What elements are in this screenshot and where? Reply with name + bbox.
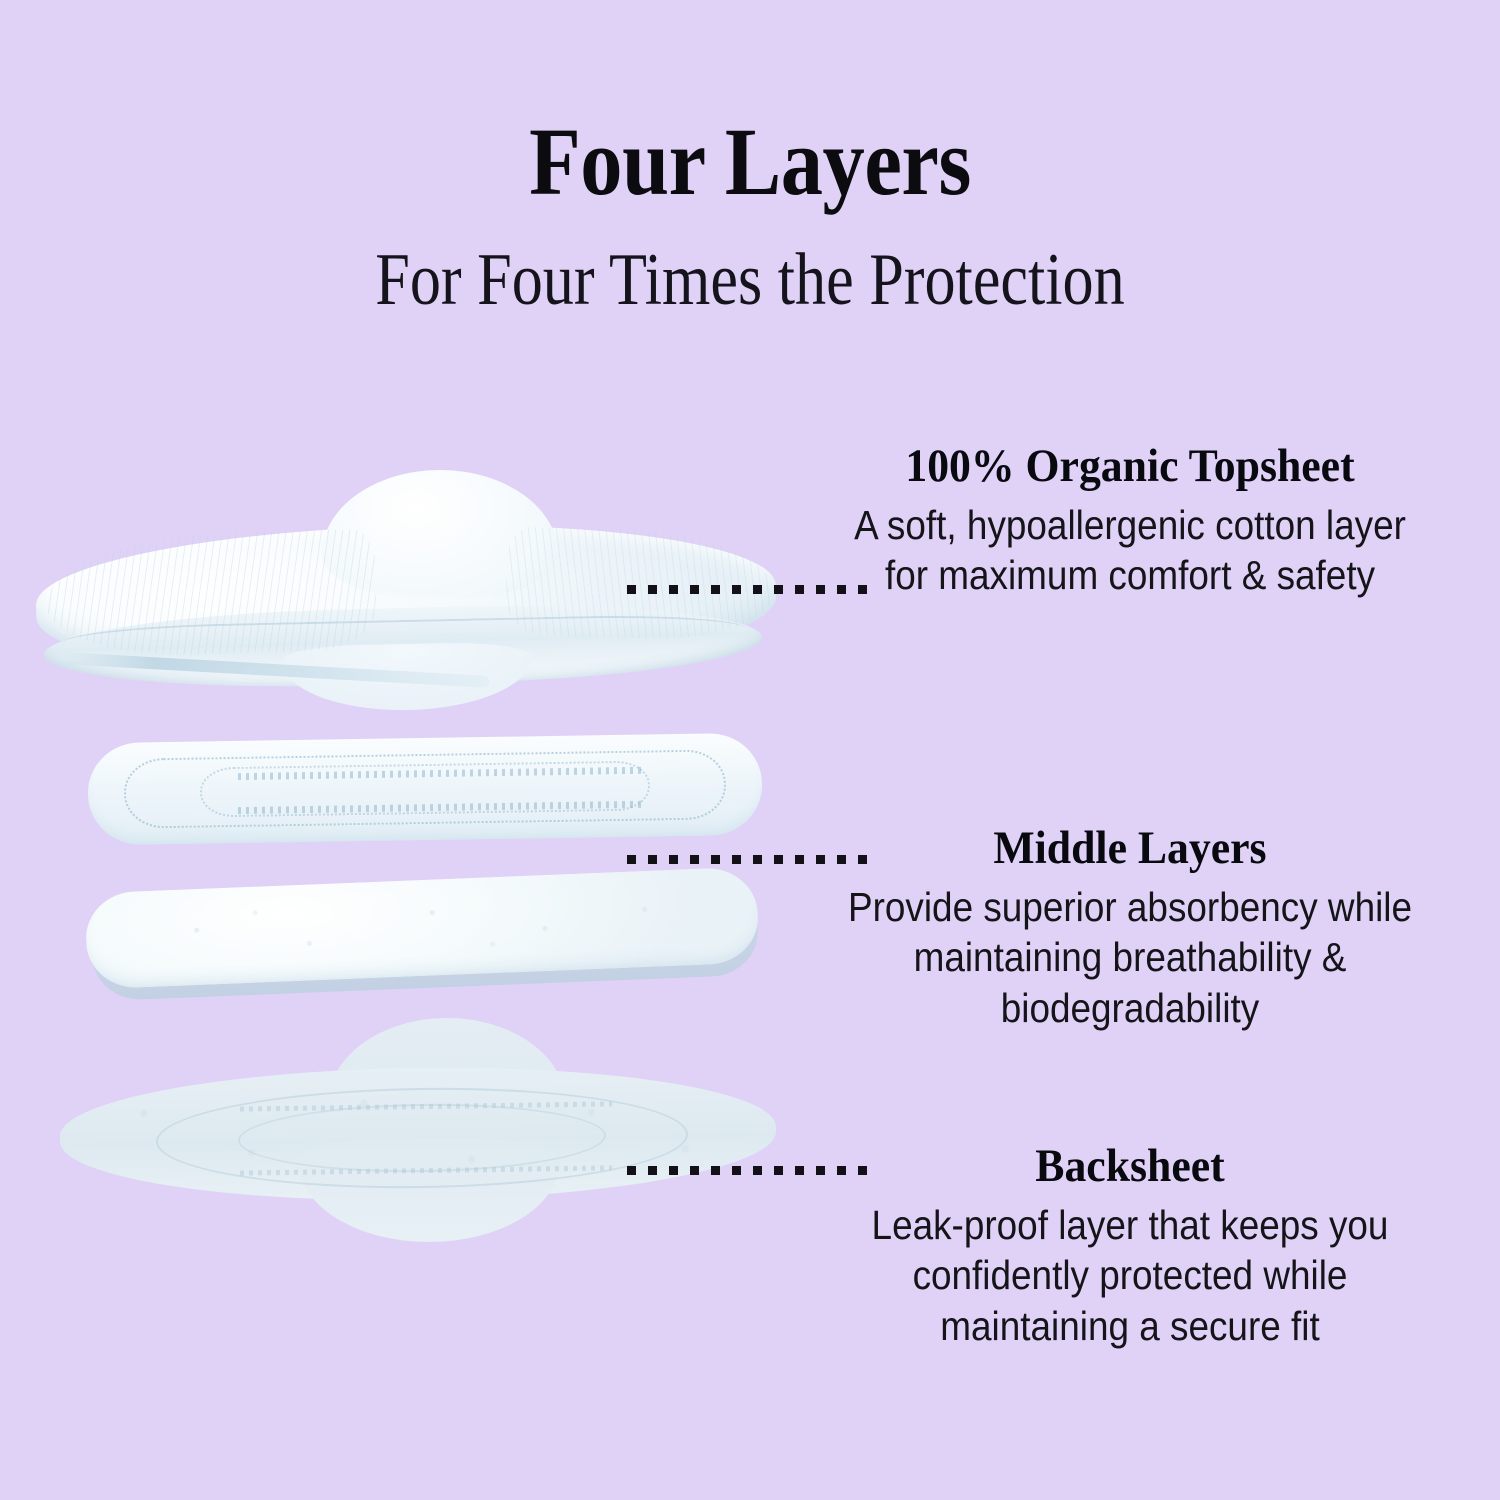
pad-image-middle-quilted — [88, 738, 762, 840]
topsheet-texture-left — [44, 528, 378, 659]
pad-layer-illustrations — [0, 0, 800, 1500]
layer-title-backsheet: Backsheet — [823, 1140, 1437, 1193]
layer-description-middle-layers: Provide superior absorbency while mainta… — [833, 882, 1427, 1034]
layer-description-topsheet: A soft, hypoallergenic cotton layer for … — [833, 500, 1427, 602]
topsheet-texture-right — [505, 527, 776, 642]
infographic-poster: Four Layers For Four Times the Protectio… — [0, 0, 1500, 1500]
layer-callout-topsheet: 100% Organic Topsheet A soft, hypoallerg… — [800, 440, 1460, 601]
pad-image-backsheet — [60, 1012, 776, 1244]
pad-image-middle-core — [86, 880, 764, 992]
layer-callout-middle-layers: Middle Layers Provide superior absorbenc… — [800, 822, 1460, 1034]
layer-description-backsheet: Leak-proof layer that keeps you confiden… — [833, 1200, 1427, 1352]
layer-title-topsheet: 100% Organic Topsheet — [823, 440, 1437, 493]
layer-title-middle-layers: Middle Layers — [823, 822, 1437, 875]
layer-callout-backsheet: Backsheet Leak-proof layer that keeps yo… — [800, 1140, 1460, 1352]
